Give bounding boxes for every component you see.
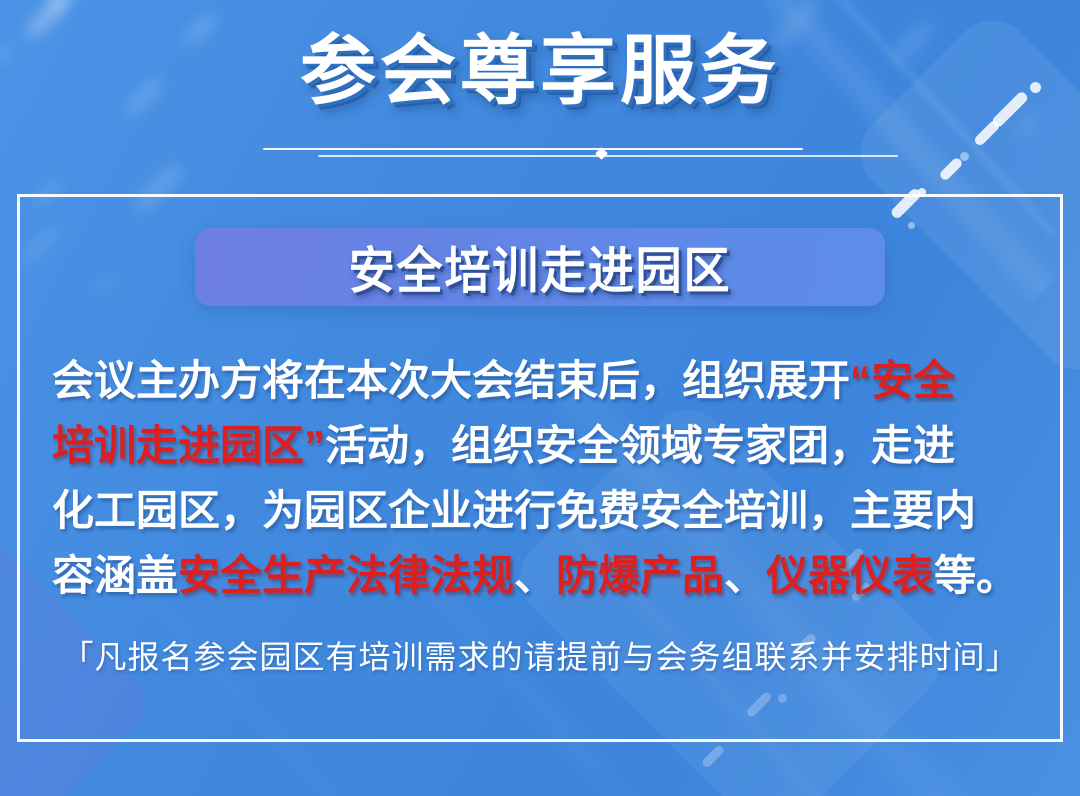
highlighted-text: 防爆产品 xyxy=(556,552,724,599)
divider-line xyxy=(318,155,898,157)
body-text: 会议主办方将在本次大会结束后，组织展开 xyxy=(52,357,850,404)
body-text: 、 xyxy=(514,552,556,599)
highlighted-text: 安全生产法律法规 xyxy=(178,552,514,599)
section-badge-label: 安全培训走进园区 xyxy=(223,228,858,306)
page-title: 参会尊享服务 xyxy=(0,30,1080,114)
footer-note: 「凡报名参会园区有培训需求的请提前与会务组联系并安排时间」 xyxy=(17,632,1063,678)
body-text: 、 xyxy=(724,552,766,599)
highlighted-text: 仪器仪表 xyxy=(766,552,934,599)
highlighted-text: 培训走进园区” xyxy=(52,422,325,469)
divider-line xyxy=(263,148,803,150)
body-line: 化工园区，为园区企业进行免费安全培训，主要内 xyxy=(52,478,1032,543)
section-badge: 安全培训走进园区 xyxy=(195,228,885,306)
body-line: 容涵盖安全生产法律法规、防爆产品、仪器仪表等。 xyxy=(52,543,1032,608)
body-text: 容涵盖 xyxy=(52,552,178,599)
body-text: 化工园区，为园区企业进行免费安全培训，主要内 xyxy=(52,487,976,534)
highlighted-text: “安全 xyxy=(850,357,955,404)
dash-dot xyxy=(701,744,726,769)
poster-header: 参会尊享服务 xyxy=(0,0,1080,194)
body-line: 培训走进园区”活动，组织安全领域专家团，走进 xyxy=(52,413,1032,478)
body-text: 等。 xyxy=(934,552,1018,599)
body-paragraph: 会议主办方将在本次大会结束后，组织展开“安全培训走进园区”活动，组织安全领域专家… xyxy=(52,348,1032,608)
body-line: 会议主办方将在本次大会结束后，组织展开“安全 xyxy=(52,348,1032,413)
body-text: 活动，组织安全领域专家团，走进 xyxy=(325,422,955,469)
poster-canvas: 参会尊享服务 安全培训走进园区 会议主办方将在本次大会结束后，组织展开“安全培训… xyxy=(0,0,1080,796)
